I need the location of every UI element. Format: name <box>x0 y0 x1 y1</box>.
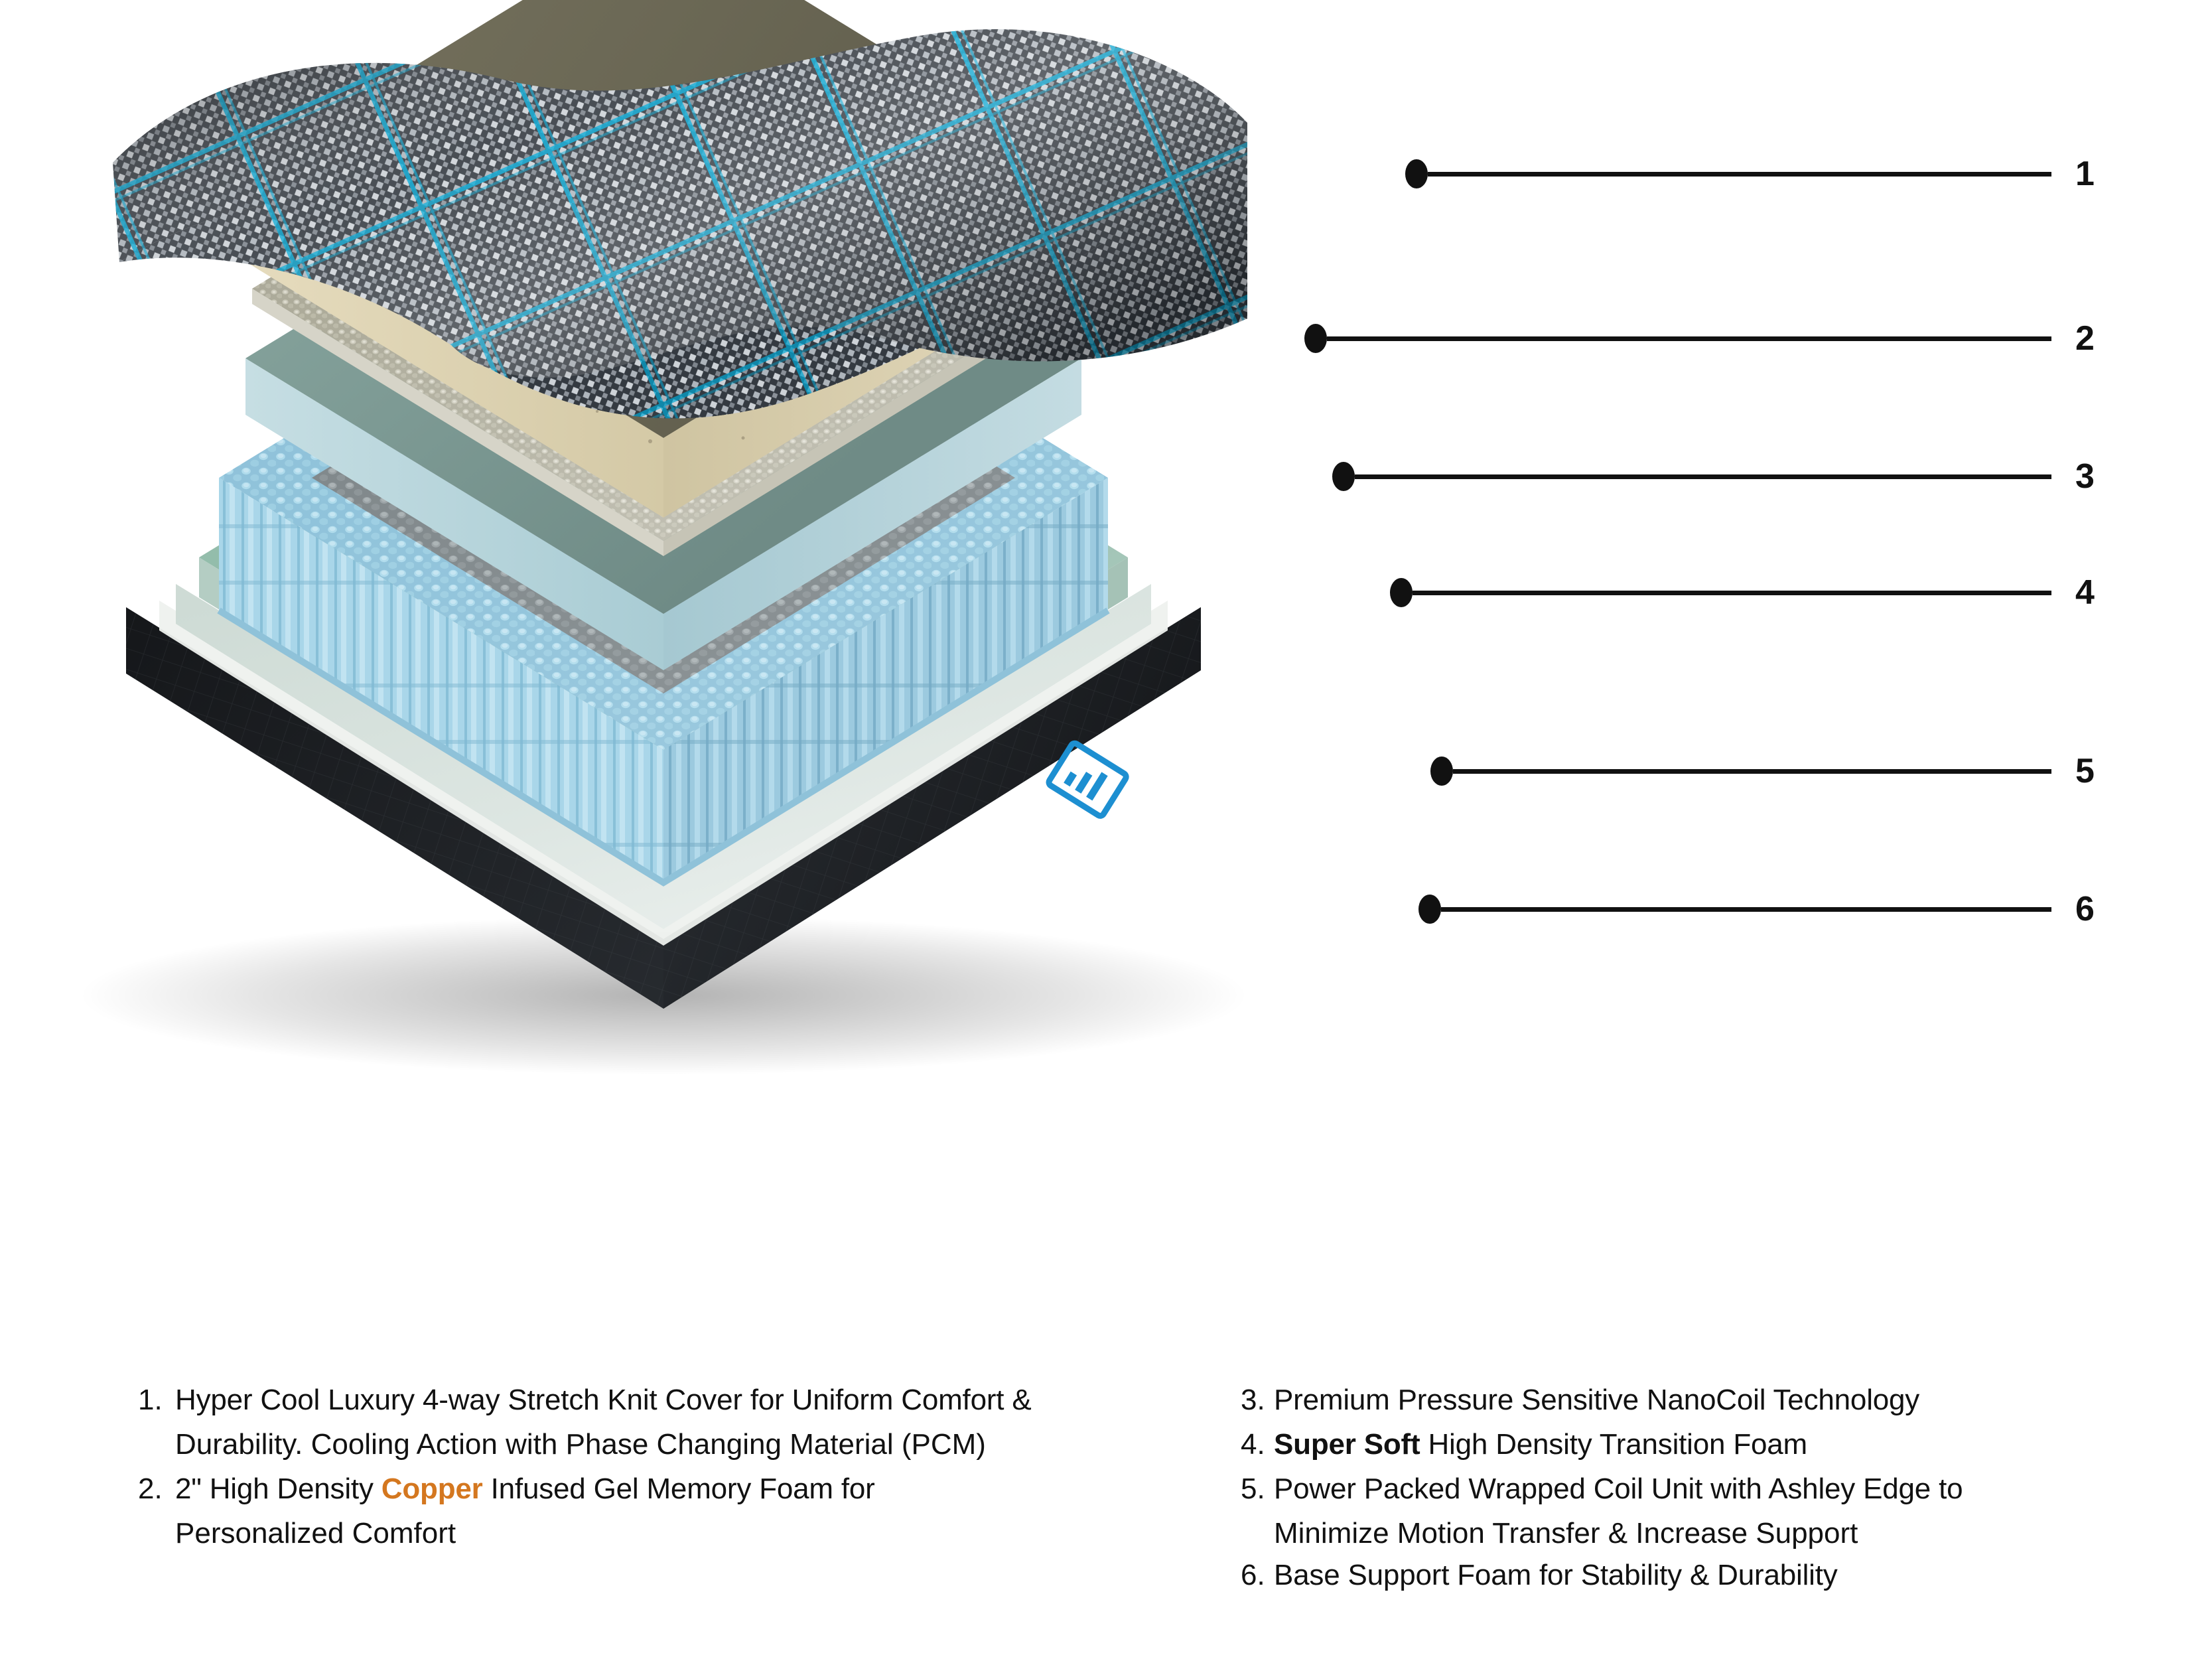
callout-line-1 <box>1428 172 2051 177</box>
legend-text-2-post: Infused Gel Memory Foam for <box>483 1473 875 1505</box>
callout-dot-3 <box>1332 462 1355 491</box>
callout-number-4: 4 <box>2075 575 2095 610</box>
callout-line-2 <box>1327 336 2051 341</box>
callout-number-2: 2 <box>2075 321 2095 356</box>
callout-number-5: 5 <box>2075 754 2095 788</box>
legend-text-4-bold: Super Soft <box>1274 1428 1420 1461</box>
legend-text-1: Hyper Cool Luxury 4-way Stretch Knit Cov… <box>175 1380 1032 1419</box>
legend-number-6: 6. <box>1241 1555 1274 1595</box>
legend-number-1: 1. <box>138 1380 175 1419</box>
legend-text-2-line2: Personalized Comfort <box>138 1514 1173 1553</box>
legend-text-3: Premium Pressure Sensitive NanoCoil Tech… <box>1274 1380 1919 1419</box>
legend-text-2-copper: Copper <box>381 1473 483 1505</box>
legend-item-5: 5. Power Packed Wrapped Coil Unit with A… <box>1241 1469 2123 1508</box>
legend-number-4: 4. <box>1241 1425 1274 1464</box>
legend-text-5-line2: Minimize Motion Transfer & Increase Supp… <box>1241 1514 2123 1553</box>
legend-number-2: 2. <box>138 1469 175 1508</box>
legend-column-left: 1. Hyper Cool Luxury 4-way Stretch Knit … <box>138 1380 1173 1553</box>
legend-item-1: 1. Hyper Cool Luxury 4-way Stretch Knit … <box>138 1380 1173 1419</box>
legend-number-5: 5. <box>1241 1469 1274 1508</box>
legend-item-2: 2. 2" High Density Copper Infused Gel Me… <box>138 1469 1173 1508</box>
legend-text-2: 2" High Density Copper Infused Gel Memor… <box>175 1469 875 1508</box>
diagram-stage: 1 2 3 4 5 6 1. Hyper Cool Luxury 4-way S… <box>0 0 2212 1659</box>
callout-line-5 <box>1453 769 2051 774</box>
legend-item-6: 6. Base Support Foam for Stability & Dur… <box>1241 1555 2123 1595</box>
callout-line-6 <box>1441 907 2051 912</box>
legend-text-4-post: High Density Transition Foam <box>1420 1428 1807 1461</box>
callout-dot-5 <box>1430 757 1453 786</box>
callout-dot-2 <box>1304 324 1327 353</box>
legend-item-4: 4. Super Soft High Density Transition Fo… <box>1241 1425 2123 1464</box>
callout-line-4 <box>1413 591 2051 595</box>
legend-text-4: Super Soft High Density Transition Foam <box>1274 1425 1807 1464</box>
callout-dot-1 <box>1405 159 1428 188</box>
legend-number-3: 3. <box>1241 1380 1274 1419</box>
callout-dot-6 <box>1418 895 1441 924</box>
callout-dot-4 <box>1390 578 1413 607</box>
legend: 1. Hyper Cool Luxury 4-way Stretch Knit … <box>0 1380 2212 1659</box>
mattress-exploded-illustration <box>0 0 1659 1327</box>
callout-line-3 <box>1355 474 2051 479</box>
legend-text-5: Power Packed Wrapped Coil Unit with Ashl… <box>1274 1469 1963 1508</box>
legend-text-2-pre: 2" High Density <box>175 1473 381 1505</box>
callout-number-1: 1 <box>2075 157 2095 191</box>
legend-text-6: Base Support Foam for Stability & Durabi… <box>1274 1555 1838 1595</box>
callout-number-3: 3 <box>2075 459 2095 494</box>
legend-text-1-line2: Durability. Cooling Action with Phase Ch… <box>138 1425 1173 1464</box>
legend-item-3: 3. Premium Pressure Sensitive NanoCoil T… <box>1241 1380 2123 1419</box>
callout-number-6: 6 <box>2075 892 2095 926</box>
legend-column-right: 3. Premium Pressure Sensitive NanoCoil T… <box>1241 1380 2123 1600</box>
